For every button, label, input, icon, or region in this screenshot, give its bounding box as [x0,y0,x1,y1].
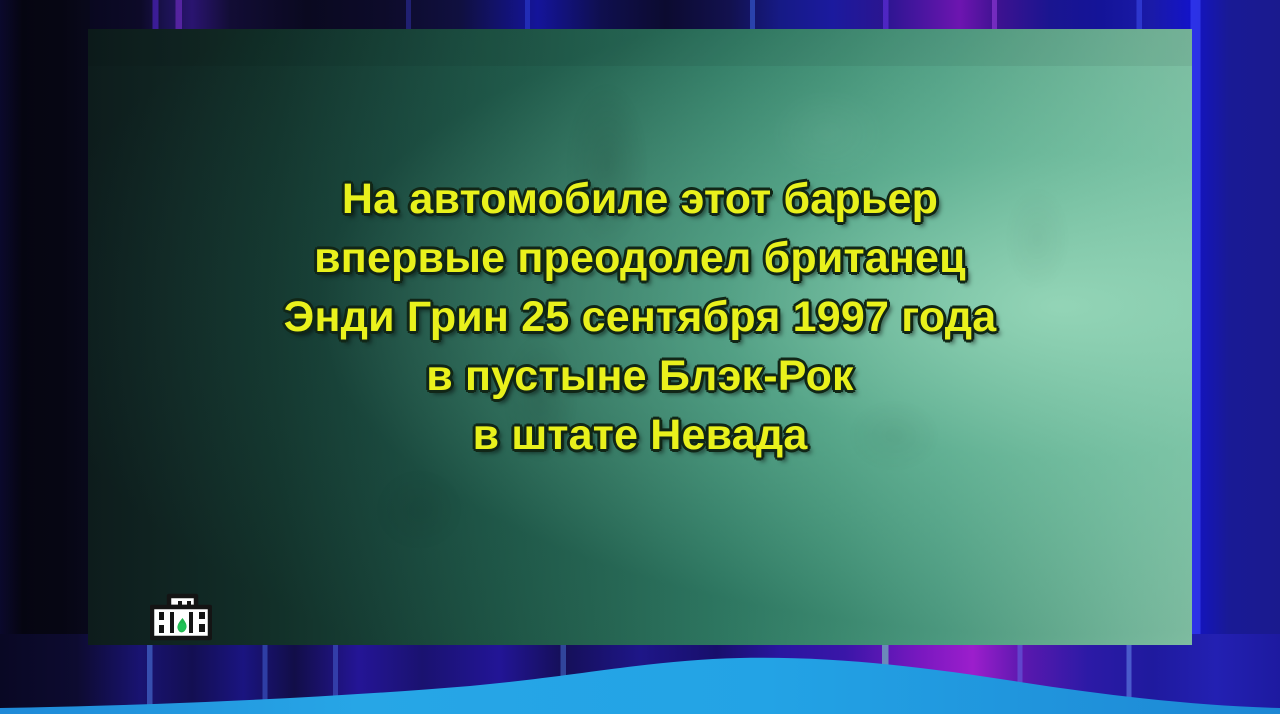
broadcast-frame: На автомобиле этот барьер впервые преодо… [0,0,1280,714]
panel-texture [88,29,1192,645]
cyan-wave-graphic [0,634,1280,714]
caption-panel [88,29,1192,645]
studio-left-dark-panel [0,0,90,714]
ntv-logo [150,592,212,642]
